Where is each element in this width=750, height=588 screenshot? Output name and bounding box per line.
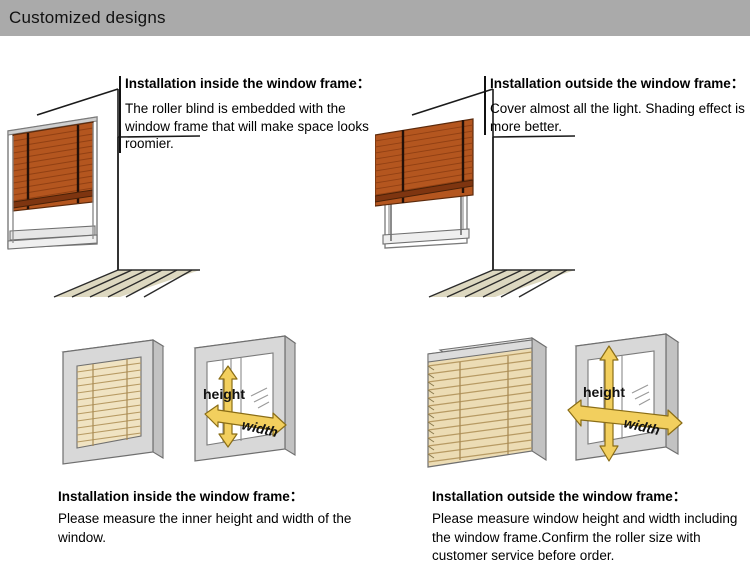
blind-and-measure-outside: height width — [420, 330, 720, 480]
caption-title: Installation inside the window frame： — [125, 76, 374, 92]
height-label: height — [203, 386, 245, 402]
caption-title: Installation outside the window frame： — [490, 76, 750, 92]
caption-body: Please measure window height and width i… — [432, 510, 744, 566]
caption-body: Cover almost all the light. Shading effe… — [490, 100, 750, 135]
caption-top-left: Installation inside the window frame： Th… — [119, 76, 374, 153]
diagram-inside-mount: height width — [45, 330, 325, 485]
caption-body: Please measure the inner height and widt… — [58, 510, 388, 547]
venetian-blind-inside-frame — [63, 340, 163, 464]
caption-accent-bar — [484, 76, 486, 135]
caption-accent-bar — [119, 76, 121, 153]
blind-and-measure-inside: height width — [45, 330, 325, 480]
diagram-outside-mount: height width — [420, 330, 720, 485]
page-title: Customized designs — [9, 8, 166, 28]
window-frame-with-measure-arrows-inside: height width — [195, 336, 295, 461]
window-frame-with-measure-arrows-outside: height width — [568, 334, 682, 461]
height-label: height — [583, 384, 625, 400]
customized-designs-page: Customized designs — [0, 0, 750, 588]
caption-title: Installation outside the window frame： — [432, 488, 744, 506]
caption-title: Installation inside the window frame： — [58, 488, 388, 506]
caption-bottom-right: Installation outside the window frame： P… — [432, 488, 744, 566]
venetian-blind-outside-frame — [428, 338, 546, 467]
caption-top-right: Installation outside the window frame： C… — [484, 76, 750, 135]
caption-body: The roller blind is embedded with the wi… — [125, 100, 374, 153]
caption-bottom-left: Installation inside the window frame： Pl… — [58, 488, 388, 547]
